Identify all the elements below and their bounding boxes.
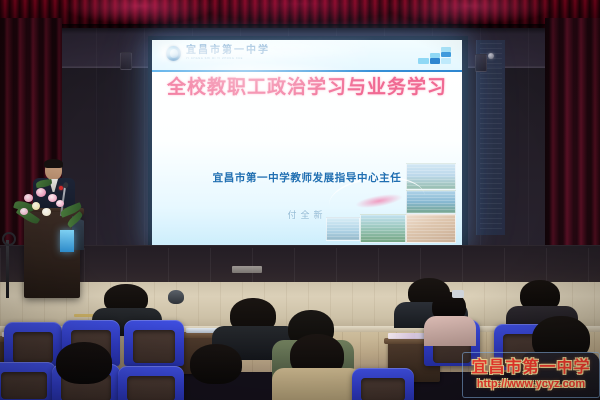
microphone-stand-head: [2, 232, 16, 246]
presentation-slide: 宜昌市第一中学 YI CHANG SHI DI YI ZHONG XUE: [152, 40, 462, 245]
auditorium-photo: 宜昌市第一中学 YI CHANG SHI DI YI ZHONG XUE: [0, 0, 600, 400]
presenter-hair: [44, 159, 63, 168]
auditorium-seat: [0, 362, 56, 400]
attendee-shoulders: [272, 368, 362, 400]
brand-name-en: YI CHANG SHI DI YI ZHONG XUE: [186, 58, 270, 61]
slide-presenter-name: 付全新: [152, 208, 462, 221]
projection-screen: 宜昌市第一中学 YI CHANG SHI DI YI ZHONG XUE: [152, 40, 462, 245]
school-emblem-icon: [166, 46, 181, 61]
wall-speaker: [120, 52, 132, 70]
slide-subtitle: 宜昌市第一中学教师发展指导中心主任: [152, 170, 462, 185]
auditorium-seat: [118, 366, 184, 400]
podium-monitor: [60, 230, 74, 252]
slide-brand-lockup: 宜昌市第一中学 YI CHANG SHI DI YI ZHONG XUE: [166, 46, 270, 61]
attendee: [168, 290, 184, 304]
wall-speaker: [475, 54, 487, 72]
stepped-bars-icon: [418, 46, 452, 64]
attendee-shoulders: [424, 316, 476, 346]
wall-light-fixture-icon: [488, 53, 494, 59]
auditorium-seat: [4, 322, 62, 366]
brand-name-cn: 宜昌市第一中学: [186, 46, 270, 56]
slide-title: 全校教职工政治学习与业务学习: [152, 72, 462, 99]
flower-arrangement: [14, 176, 84, 228]
auditorium-seat: [352, 368, 414, 400]
watermark: 宜昌市第一中学 http://www.ycyz.com: [462, 352, 600, 398]
valance-shadow: [0, 24, 600, 34]
watermark-school-name: 宜昌市第一中学: [471, 360, 590, 376]
brand-text-group: 宜昌市第一中学 YI CHANG SHI DI YI ZHONG XUE: [186, 46, 270, 60]
attendee: [56, 342, 112, 384]
wall-vent: [232, 266, 262, 273]
watermark-url: http://www.ycyz.com: [477, 379, 585, 390]
auditorium-seat: [124, 320, 184, 366]
hair-clip-icon: [452, 290, 464, 298]
attendee: [190, 344, 242, 384]
